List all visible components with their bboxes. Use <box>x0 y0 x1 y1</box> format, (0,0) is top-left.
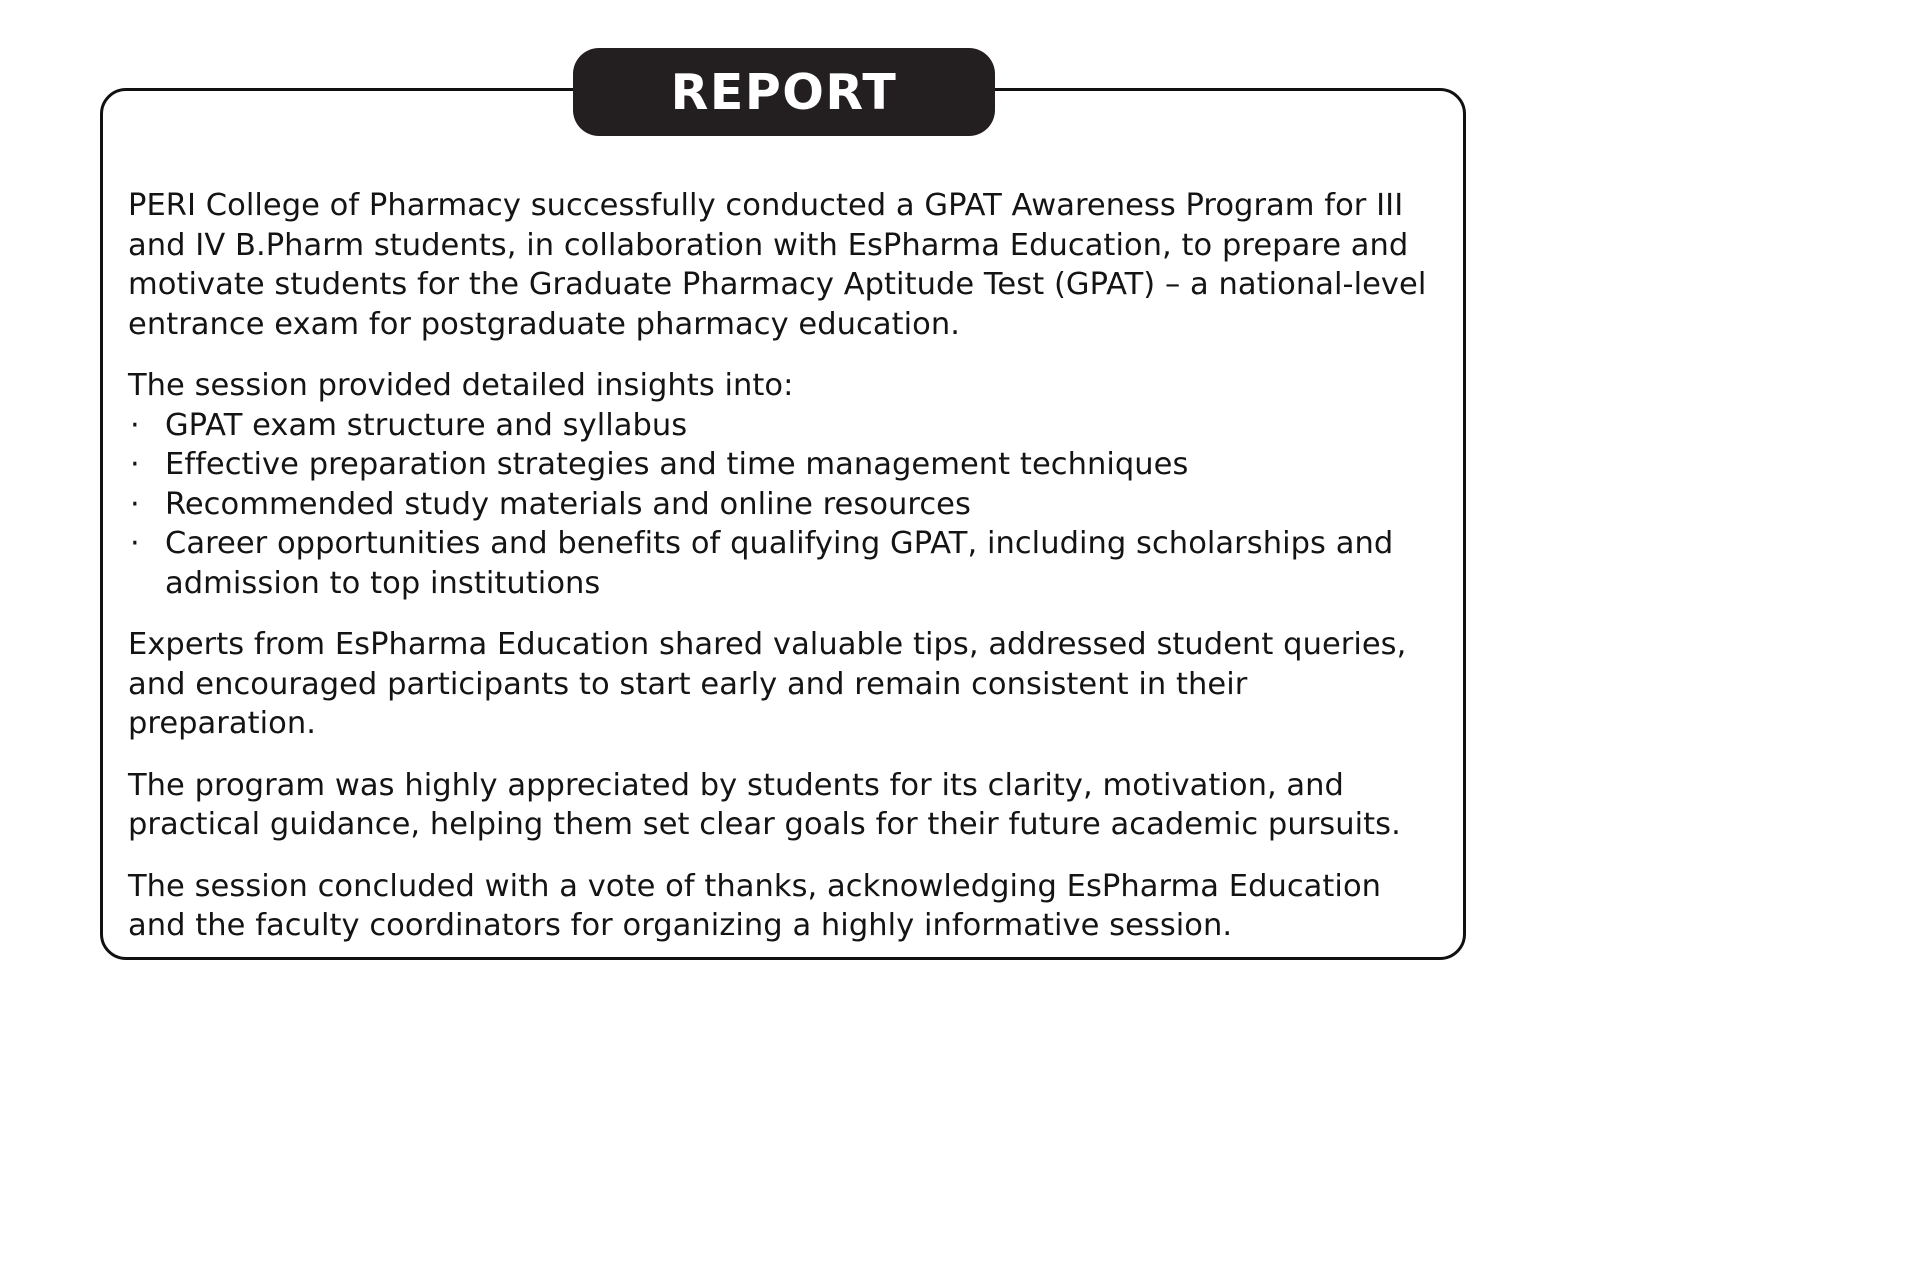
list-item-text: Career opportunities and benefits of qua… <box>165 526 1393 601</box>
report-body: PERI College of Pharmacy successfully co… <box>128 186 1438 946</box>
appreciation-paragraph: The program was highly appreciated by st… <box>128 766 1438 845</box>
insights-bullet-list: · GPAT exam structure and syllabus · Eff… <box>128 406 1438 604</box>
intro-paragraph: PERI College of Pharmacy successfully co… <box>128 186 1438 344</box>
bullet-dot-icon: · <box>130 485 140 525</box>
bullet-dot-icon: · <box>130 524 140 564</box>
bullet-dot-icon: · <box>130 445 140 485</box>
conclusion-paragraph: The session concluded with a vote of tha… <box>128 867 1438 946</box>
list-item-text: Effective preparation strategies and tim… <box>165 447 1188 482</box>
bullet-dot-icon: · <box>130 406 140 446</box>
list-item: · Career opportunities and benefits of q… <box>128 524 1438 603</box>
report-page: REPORT PERI College of Pharmacy successf… <box>0 0 1920 1280</box>
report-title-badge: REPORT <box>573 48 995 136</box>
list-item: · Effective preparation strategies and t… <box>128 445 1438 485</box>
experts-paragraph: Experts from EsPharma Education shared v… <box>128 625 1438 744</box>
list-item: · Recommended study materials and online… <box>128 485 1438 525</box>
report-title-text: REPORT <box>671 68 898 117</box>
list-item-text: Recommended study materials and online r… <box>165 487 971 522</box>
list-item-text: GPAT exam structure and syllabus <box>165 408 687 443</box>
list-item: · GPAT exam structure and syllabus <box>128 406 1438 446</box>
list-intro-line: The session provided detailed insights i… <box>128 366 1438 406</box>
